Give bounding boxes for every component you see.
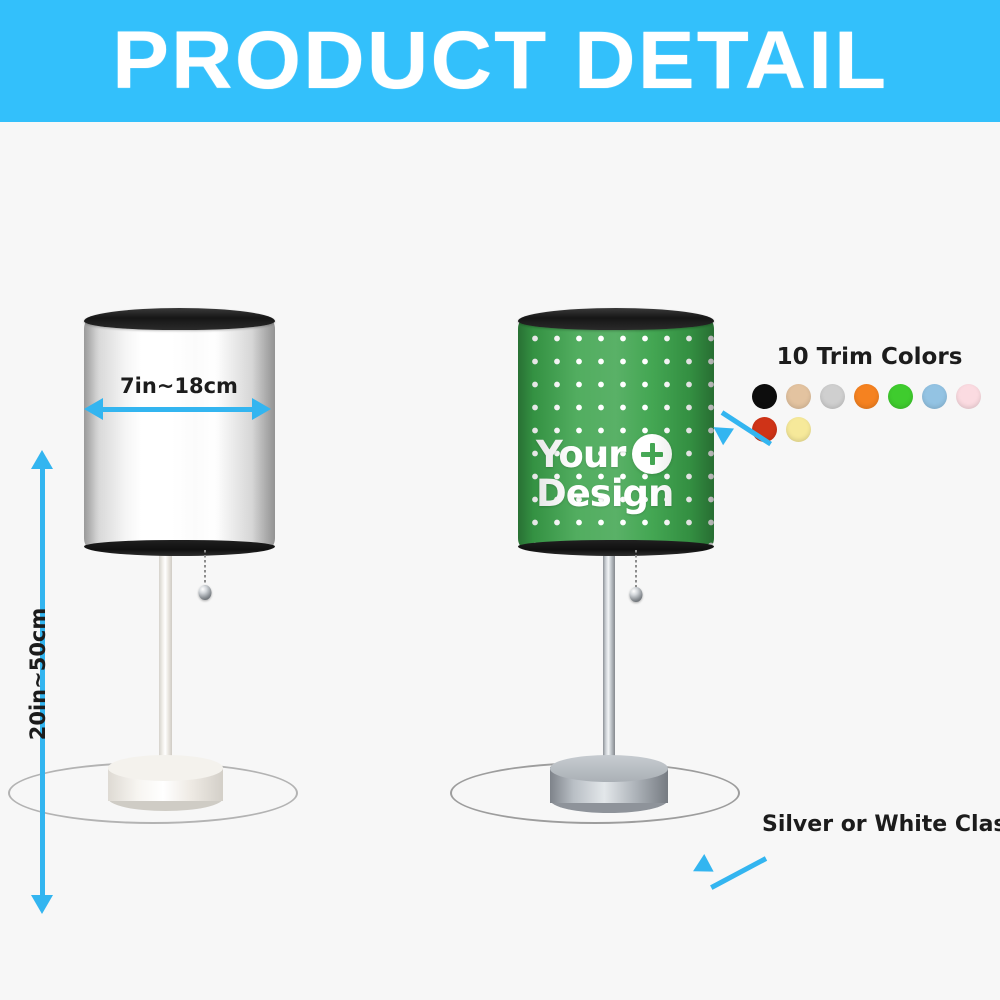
shade-shading-white — [84, 319, 275, 548]
lampshade-surface-green: Your Design — [518, 319, 714, 548]
trim-swatch-light-blue[interactable] — [922, 384, 947, 409]
lampshade-trim-top-green — [518, 308, 714, 330]
base-finish-arrow-line — [710, 856, 767, 890]
width-arrow-left-head — [84, 398, 103, 420]
trim-swatch-black[interactable] — [752, 384, 777, 409]
product-detail-banner: PRODUCT DETAIL — [0, 0, 1000, 122]
width-arrow-line — [100, 407, 254, 412]
product-illustration-stage: Your Design 7in~18cm 20in~50cm 10 Trim C… — [0, 122, 1000, 1000]
lampshade-trim-bottom-green — [518, 540, 714, 556]
page-title: PRODUCT DETAIL — [112, 20, 888, 102]
base-finish-label: Silver or White Classy — [762, 812, 1000, 837]
lampshade-white — [84, 308, 275, 556]
trim-swatch-gray[interactable] — [820, 384, 845, 409]
your-design-logo: Your Design — [536, 434, 673, 512]
lamp-base-white — [108, 755, 223, 811]
trim-colors-panel: 10 Trim Colors — [752, 344, 1000, 442]
lampshade-trim-top-white — [84, 308, 275, 330]
trim-colors-title: 10 Trim Colors — [752, 344, 987, 370]
base-top-white — [108, 755, 223, 781]
plus-circle-icon — [632, 434, 672, 474]
width-dimension-label: 7in~18cm — [84, 374, 274, 398]
lamp-base-silver — [550, 755, 668, 813]
lamp-pole-white — [159, 550, 172, 765]
height-dimension-label: 20in~50cm — [26, 574, 50, 774]
trim-color-swatch-grid — [752, 384, 1000, 442]
lampshade-trim-bottom-white — [84, 540, 275, 556]
logo-word-your: Your — [536, 437, 625, 473]
trim-swatch-orange[interactable] — [854, 384, 879, 409]
your-design-line-1: Your — [536, 434, 673, 474]
trim-swatch-yellow[interactable] — [786, 417, 811, 442]
lamp-pole-silver — [603, 550, 615, 766]
pull-chain-silver[interactable] — [629, 550, 643, 596]
pull-chain-white[interactable] — [198, 550, 212, 594]
lampshade-green: Your Design — [518, 308, 714, 556]
base-finish-arrow-head — [688, 854, 713, 880]
height-arrow-top-head — [31, 450, 53, 469]
lampshade-surface-white — [84, 319, 275, 548]
chain-ball-icon — [199, 585, 212, 600]
base-top-silver — [550, 755, 668, 782]
trim-swatch-tan[interactable] — [786, 384, 811, 409]
trim-swatch-green[interactable] — [888, 384, 913, 409]
width-arrow-right-head — [252, 398, 271, 420]
trim-swatch-pink[interactable] — [956, 384, 981, 409]
chain-ball-icon — [630, 587, 643, 602]
logo-word-design: Design — [536, 476, 673, 512]
height-arrow-bottom-head — [31, 895, 53, 914]
